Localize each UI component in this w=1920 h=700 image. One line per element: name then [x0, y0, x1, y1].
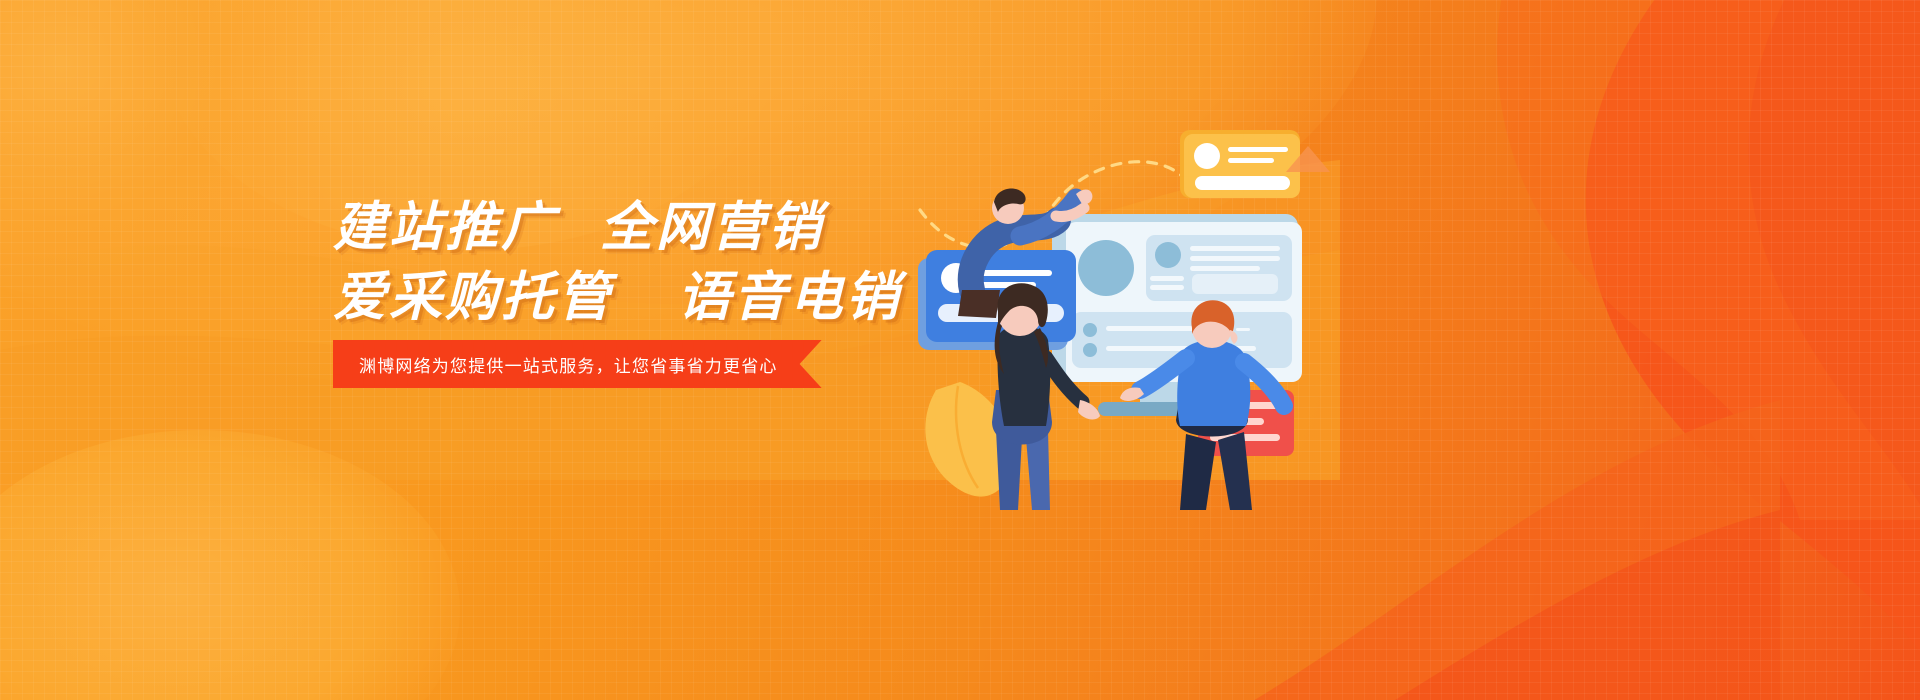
subheadline-ribbon: 渊博网络为您提供一站式服务，让您省事省力更省心 [333, 340, 822, 388]
team-website-marketing-illustration [900, 90, 1360, 510]
yellow-profile-card [1180, 130, 1300, 198]
ribbon-label: 渊博网络为您提供一站式服务，让您省事省力更省心 [359, 352, 778, 377]
ribbon-shape: 渊博网络为您提供一站式服务，让您省事省力更省心 [333, 340, 822, 388]
promo-banner: 建站推广 全网营销 爱采购托管 语音电销 渊博网络为您提供一站式服务，让您省事省… [0, 0, 1920, 700]
